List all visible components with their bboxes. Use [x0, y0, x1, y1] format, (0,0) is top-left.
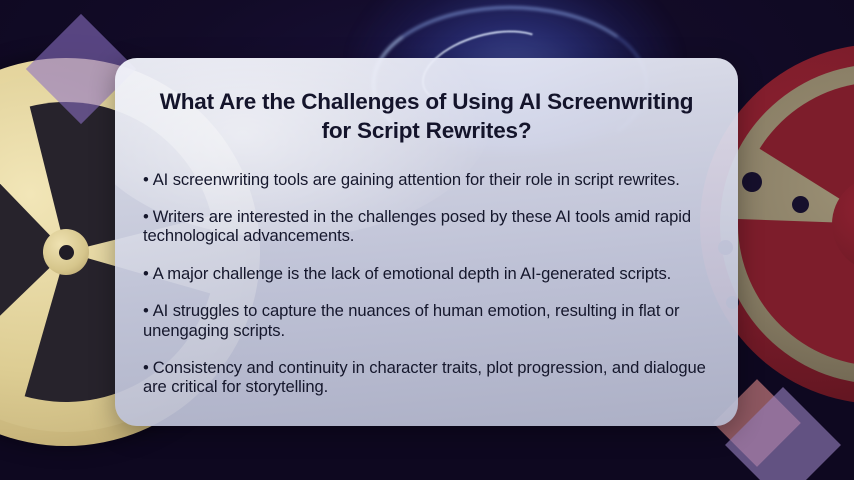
list-item: •Writers are interested in the challenge… — [143, 207, 710, 246]
list-item: •A major challenge is the lack of emotio… — [143, 264, 710, 283]
slide-title: What Are the Challenges of Using AI Scre… — [153, 88, 700, 146]
bullet-marker-icon: • — [143, 207, 149, 226]
list-item-text: Writers are interested in the challenges… — [143, 207, 691, 245]
list-item-text: AI screenwriting tools are gaining atten… — [153, 170, 680, 189]
bullet-marker-icon: • — [143, 358, 149, 377]
red-reel-hole — [742, 172, 762, 192]
content-card: What Are the Challenges of Using AI Scre… — [115, 58, 738, 426]
list-item-text: Consistency and continuity in character … — [143, 358, 706, 396]
bullet-list: •AI screenwriting tools are gaining atte… — [143, 170, 710, 397]
list-item-text: A major challenge is the lack of emotion… — [153, 264, 671, 283]
list-item: •AI screenwriting tools are gaining atte… — [143, 170, 710, 189]
list-item-text: AI struggles to capture the nuances of h… — [143, 301, 679, 339]
presentation-slide: What Are the Challenges of Using AI Scre… — [0, 0, 854, 480]
red-reel-hole — [792, 196, 809, 213]
gold-reel-center-hole — [59, 245, 74, 260]
bullet-marker-icon: • — [143, 264, 149, 283]
bullet-marker-icon: • — [143, 170, 149, 189]
list-item: •AI struggles to capture the nuances of … — [143, 301, 710, 340]
bullet-marker-icon: • — [143, 301, 149, 320]
list-item: •Consistency and continuity in character… — [143, 358, 710, 397]
